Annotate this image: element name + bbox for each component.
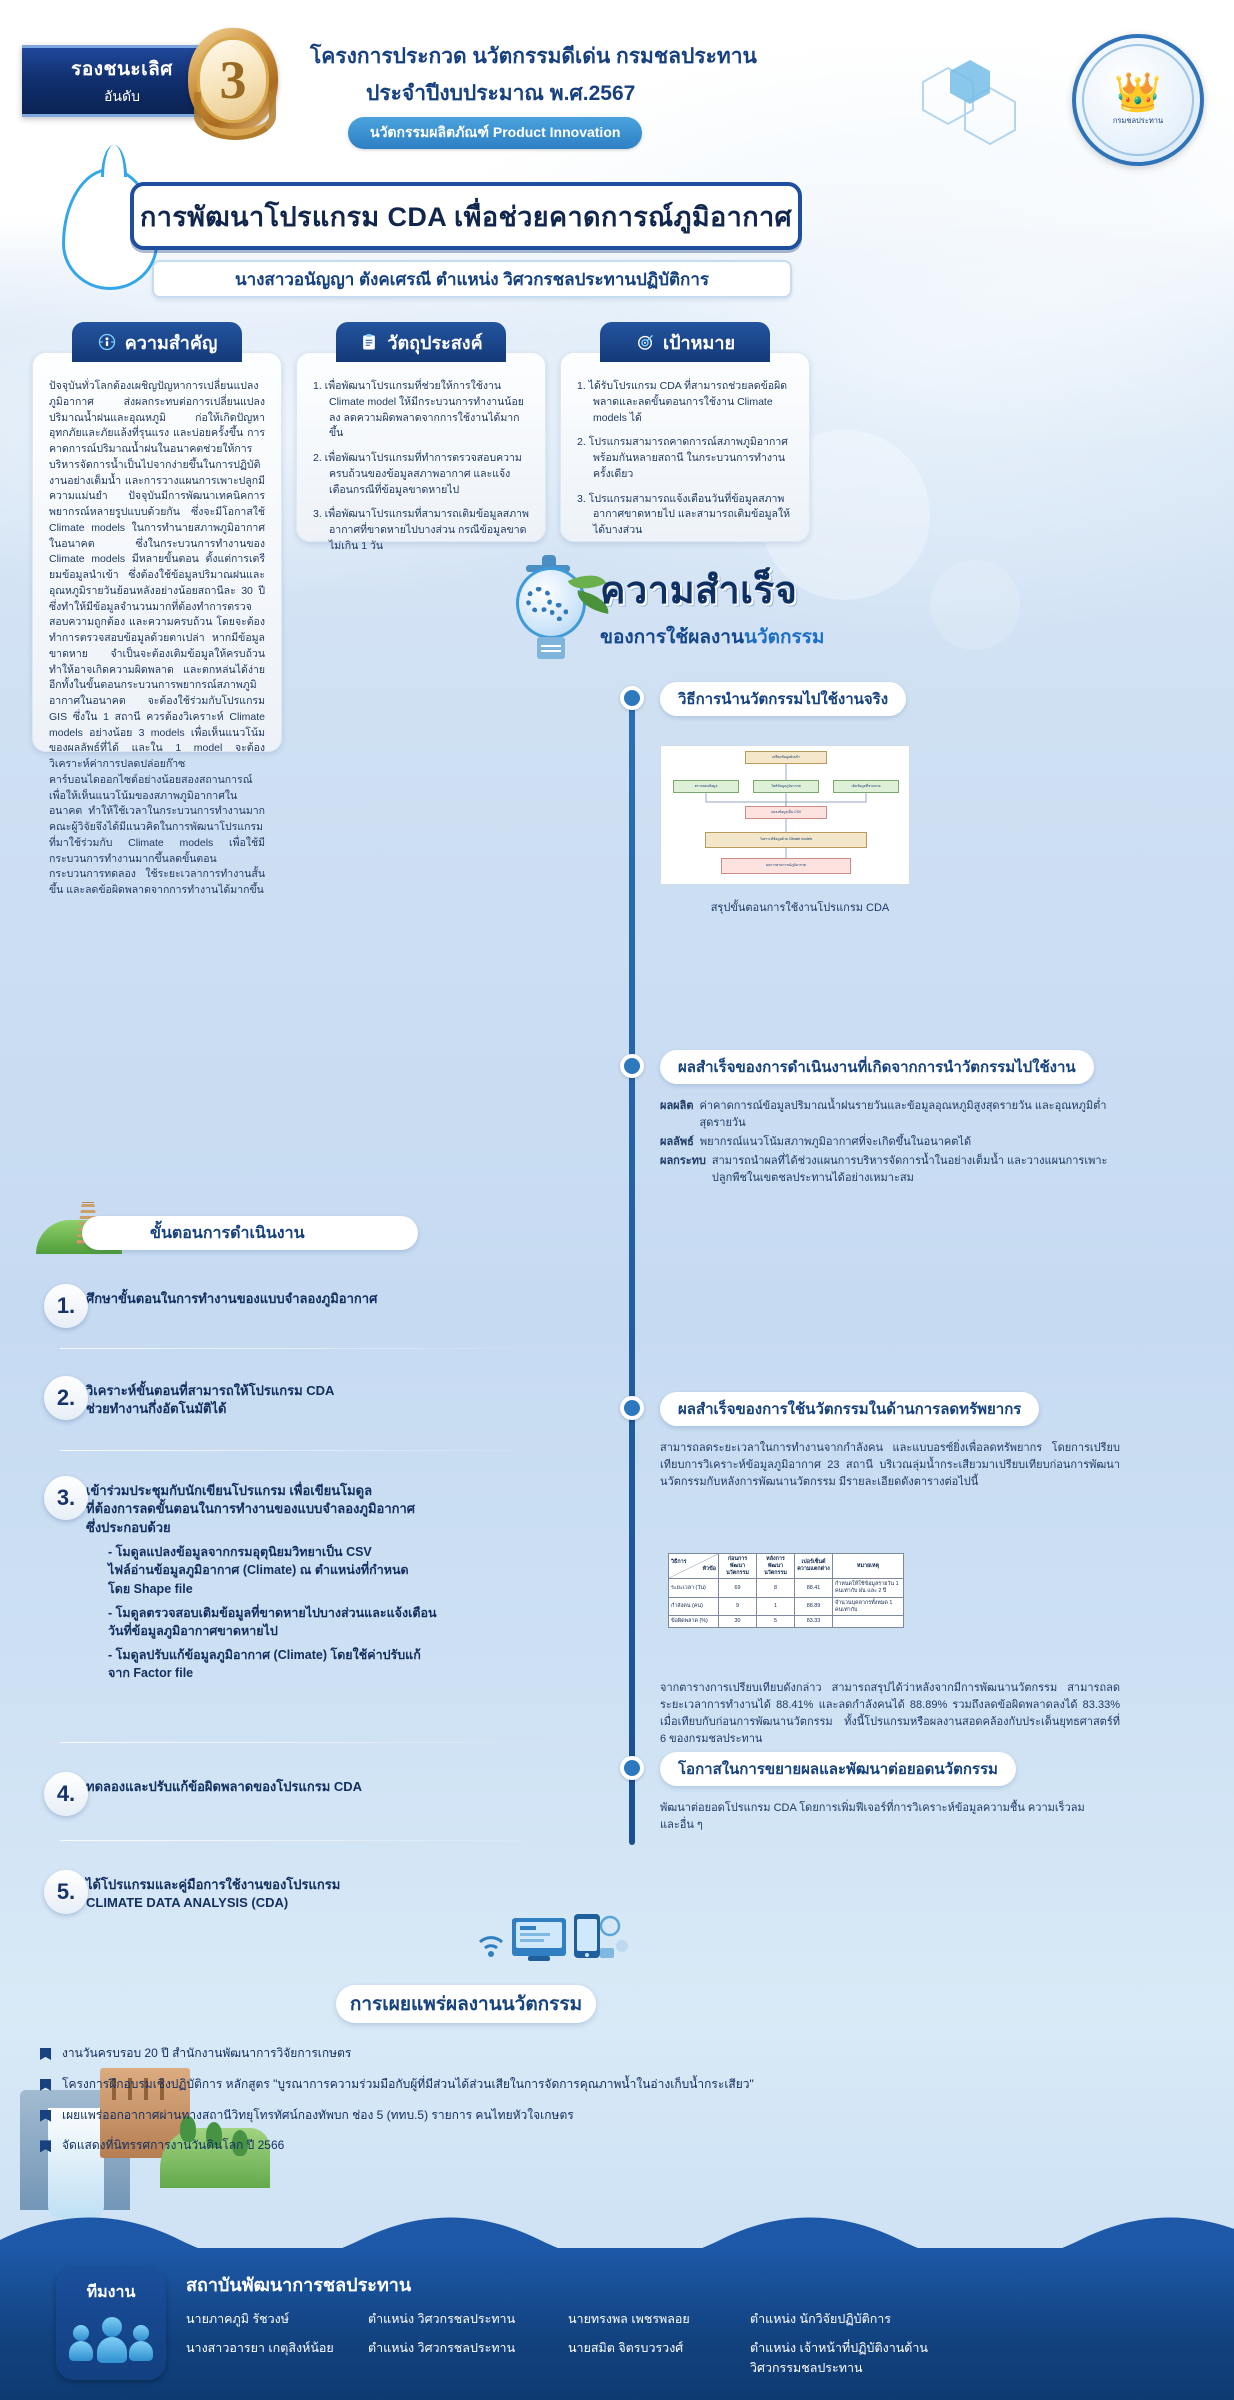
card-objectives-header: วัตถุประสงค์ — [336, 322, 506, 362]
author-name: นางสาวอนัญญา ตังคเศรณี ตำแหน่ง วิศวกรชลป… — [235, 266, 709, 293]
comparison-table: วิธีการ หัวข้อ ก่อนการพัฒนานวัตกรรม หลัง… — [668, 1553, 904, 1628]
flow-node: ตรวจสอบข้อมูล — [673, 780, 739, 793]
list-item: จัดแสดงที่นิทรรศการงานวันดินโลก ปี 2566 — [40, 2137, 800, 2154]
success-heading: ความสำเร็จ — [600, 559, 824, 620]
card-importance-title: ความสำคัญ — [125, 328, 218, 357]
timeline-dot — [620, 686, 644, 710]
table-col-note: หมายเหตุ — [833, 1554, 904, 1579]
result-text: พยากรณ์แนวโน้มสภาพภูมิอากาศที่จะเกิดขึ้น… — [700, 1134, 971, 1151]
row-metric: กำลังคน (คน) — [669, 1597, 719, 1616]
list-item: 2. โปรแกรมสามารถคาดการณ์สภาพภูมิอากาศ พร… — [577, 435, 793, 482]
people-group-icon — [69, 2315, 153, 2363]
category-pill: นวัตกรรมผลิตภัณฑ์ Product Innovation — [348, 117, 642, 149]
clipboard-icon — [359, 332, 379, 352]
member-name: นายสมิต จิตรบวรวงศ์ — [568, 2338, 750, 2378]
row-after: 5 — [757, 1616, 795, 1628]
competition-line-1: โครงการประกวด นวัตกรรมดีเด่น กรมชลประทาน — [310, 40, 900, 73]
step-separator — [60, 1840, 560, 1841]
step-number: 3. — [44, 1476, 88, 1520]
step-separator — [60, 1348, 560, 1349]
comparison-table-wrapper: วิธีการ หัวข้อ ก่อนการพัฒนานวัตกรรม หลัง… — [668, 1553, 904, 1628]
team-label: ทีมงาน — [87, 2280, 136, 2305]
bulb-base — [537, 637, 565, 659]
section-heading-dissemination: การเผยแพร่ผลงานนวัตกรรม — [336, 1985, 596, 2023]
step-number: 5. — [44, 1870, 88, 1914]
card-objectives: วัตถุประสงค์ 1. เพื่อพัฒนาโปรแกรมที่ช่วย… — [296, 322, 546, 542]
row-after: 1 — [757, 1597, 795, 1616]
list-item: 1. ได้รับโปรแกรม CDA ที่สามารถช่วยลดข้อผ… — [577, 379, 793, 426]
flow-diagram-image: เตรียมข้อมูลดิบเข้า ตรวจสอบข้อมูล ไฟล์ข้… — [660, 745, 910, 885]
step-2: 2. วิเคราะห์ขั้นตอนที่สามารถให้โปรแกรม C… — [86, 1382, 556, 1419]
card-goals-header: เป้าหมาย — [600, 322, 770, 362]
result-text: สามารถนำผลที่ได้ช่วงแผนการบริหารจัดการน้… — [712, 1153, 1120, 1187]
expansion-text: พัฒนาต่อยอดโปรแกรม CDA โดยการเพิ่มฟีเจอร… — [660, 1800, 1100, 1834]
timeline-rail — [629, 690, 635, 1845]
member-position: ตำแหน่ง เจ้าหน้าที่ปฏิบัติงานด้านวิศวกรร… — [750, 2338, 950, 2378]
target-icon — [635, 332, 655, 352]
card-importance: ความสำคัญ ปัจจุบันทั่วโลกต้องเผชิญปัญหาก… — [32, 322, 282, 752]
step-3: 3. เข้าร่วมประชุมกับนักเขียนโปรแกรม เพื่… — [86, 1482, 556, 1682]
table-corner-cell: วิธีการ หัวข้อ — [669, 1554, 719, 1579]
gear-icon — [526, 587, 552, 613]
list-item: 2. เพื่อพัฒนาโปรแกรมที่ทำการตรวจสอบความค… — [313, 451, 529, 498]
emblem-inner-ring: 👑 กรมชลประทาน — [1082, 44, 1194, 156]
success-sub-plain: ของการใช้ผลงาน — [600, 627, 744, 648]
flow-node: เติมข้อมูลที่ขาดหาย — [833, 780, 899, 793]
member-name: นายภาคภูมิ รัชวงษ์ — [186, 2309, 368, 2329]
result-label: ผลกระทบ — [660, 1153, 706, 1187]
section-heading-resource: ผลสำเร็จของการใช้นวัตกรรมในด้านการลดทรัพ… — [660, 1392, 1039, 1426]
row-diff: 83.33 — [795, 1616, 833, 1628]
step-separator — [60, 1742, 560, 1743]
team-member-row: นายทรงพล เพชรพลอย ตำแหน่ง นักวิจัยปฏิบัต… — [568, 2309, 950, 2329]
innovation-bulb-icon — [496, 563, 606, 673]
success-text: ความสำเร็จ ของการใช้ผลงานนวัตกรรม — [600, 559, 824, 652]
list-item: เผยแพร่ออกอากาศผ่านทางสถานีวิทยุโทรทัศน์… — [40, 2107, 800, 2124]
row-before: 9 — [719, 1597, 757, 1616]
section-heading-usage: วิธีการนำนวัตกรรมไปใช้งานจริง — [660, 682, 906, 716]
section-heading-expansion: โอกาสในการขยายผลและพัฒนาต่อยอดนวัตกรรม — [660, 1752, 1016, 1786]
step-1: 1. ศึกษาขั้นตอนในการทำงานของแบบจำลองภูมิ… — [86, 1290, 556, 1308]
importance-paragraph: ปัจจุบันทั่วโลกต้องเผชิญปัญหาการเปลี่ยนแ… — [49, 379, 265, 899]
media-devices-icon — [450, 1900, 650, 1980]
decorative-circle — [930, 560, 1020, 650]
result-label: ผลลัพธ์ — [660, 1134, 694, 1151]
timeline-dot — [620, 1396, 644, 1420]
header-text-block: โครงการประกวด นวัตกรรมดีเด่น กรมชลประทาน… — [310, 40, 900, 149]
step-text: ศึกษาขั้นตอนในการทำงานของแบบจำลองภูมิอาก… — [86, 1290, 556, 1308]
result-row: ผลกระทบ สามารถนำผลที่ได้ช่วงแผนการบริหาร… — [660, 1153, 1120, 1187]
table-col-before: ก่อนการพัฒนานวัตกรรม — [719, 1554, 757, 1579]
dissemination-list: งานวันครบรอบ 20 ปี สำนักงานพัฒนาการวิจัย… — [40, 2045, 800, 2168]
corner-bottom-label: หัวข้อ — [671, 1566, 716, 1573]
step-number: 4. — [44, 1772, 88, 1816]
medal-badge: 3 — [180, 28, 286, 140]
member-position: ตำแหน่ง วิศวกรชลประทาน — [368, 2338, 568, 2358]
success-sub-highlight: นวัตกรรม — [744, 627, 824, 648]
section-heading-steps: ขั้นตอนการดำเนินงาน — [82, 1216, 418, 1250]
card-goals-body: 1. ได้รับโปรแกรม CDA ที่สามารถช่วยลดข้อผ… — [560, 352, 810, 542]
royal-irrigation-department-emblem: 👑 กรมชลประทาน — [1072, 34, 1204, 166]
step-number: 2. — [44, 1376, 88, 1420]
step-text: เข้าร่วมประชุมกับนักเขียนโปรแกรม เพื่อเข… — [86, 1482, 556, 1537]
list-item: 1. เพื่อพัฒนาโปรแกรมที่ช่วยให้การใช้งาน … — [313, 379, 529, 442]
step-number: 1. — [44, 1284, 88, 1328]
hexagon-decoration-icon — [918, 58, 1038, 168]
card-importance-body: ปัจจุบันทั่วโลกต้องเผชิญปัญหาการเปลี่ยนแ… — [32, 352, 282, 752]
team-member-row: นายสมิต จิตรบวรวงศ์ ตำแหน่ง เจ้าหน้าที่ป… — [568, 2338, 950, 2378]
timeline-dot — [620, 1756, 644, 1780]
goals-list: 1. ได้รับโปรแกรม CDA ที่สามารถช่วยลดข้อผ… — [577, 379, 793, 539]
objectives-list: 1. เพื่อพัฒนาโปรแกรมที่ช่วยให้การใช้งาน … — [313, 379, 529, 555]
importance-icon — [97, 332, 117, 352]
step-substep: - โมดูลแปลงข้อมูลจากกรมอุตุนิยมวิทยาเป็น… — [108, 1543, 556, 1597]
row-diff: 88.89 — [795, 1597, 833, 1616]
team-member-row: นางสาวอารยา เกตุสิงห์น้อย ตำแหน่ง วิศวกร… — [186, 2338, 568, 2358]
team-badge: ทีมงาน — [56, 2268, 166, 2380]
row-note: กำหนดให้ใช้ข้อมูลรายวัน 1 คนเท่ากับ ฝน แ… — [833, 1579, 904, 1598]
row-metric: ระยะเวลา (วัน) — [669, 1579, 719, 1598]
list-item: งานวันครบรอบ 20 ปี สำนักงานพัฒนาการวิจัย… — [40, 2045, 800, 2062]
member-name: นายทรงพล เพชรพลอย — [568, 2309, 750, 2329]
step-substep: - โมดูลปรับแก้ข้อมูลภูมิอากาศ (Climate) … — [108, 1646, 556, 1682]
step-text: วิเคราะห์ขั้นตอนที่สามารถให้โปรแกรม CDA … — [86, 1382, 556, 1419]
flow-diagram-caption: สรุปขั้นตอนการใช้งานโปรแกรม CDA — [660, 900, 940, 917]
table-header-row: วิธีการ หัวข้อ ก่อนการพัฒนานวัตกรรม หลัง… — [669, 1554, 904, 1579]
table-row: ระยะเวลา (วัน) 69 8 88.41 กำหนดให้ใช้ข้อ… — [669, 1579, 904, 1598]
team-members-grid: นายภาคภูมิ รัชวงษ์ ตำแหน่ง วิศวกรชลประทา… — [186, 2309, 1186, 2378]
step-separator — [60, 1450, 560, 1451]
team-info: สถาบันพัฒนาการชลประทาน นายภาคภูมิ รัชวงษ… — [186, 2270, 1186, 2378]
result-row: ผลลัพธ์ พยากรณ์แนวโน้มสภาพภูมิอากาศที่จะ… — [660, 1134, 1120, 1151]
row-diff: 88.41 — [795, 1579, 833, 1598]
gear-icon — [550, 603, 568, 621]
list-item: 3. โปรแกรมสามารถแจ้งเตือนวันที่ข้อมูลสภา… — [577, 492, 793, 539]
success-subheading: ของการใช้ผลงานนวัตกรรม — [600, 622, 824, 652]
section-heading-results: ผลสำเร็จของการดำเนินงานที่เกิดจากการนำวั… — [660, 1050, 1094, 1084]
page-title: การพัฒนาโปรแกรม CDA เพื่อช่วยคาดการณ์ภูม… — [140, 195, 792, 238]
resource-conclusion: จากตารางการเปรียบเทียบดังกล่าว สามารถสรุ… — [660, 1680, 1120, 1748]
row-before: 30 — [719, 1616, 757, 1628]
flow-node: วิเคราะห์ข้อมูลด้วย Climate models — [705, 832, 867, 848]
resource-intro: สามารถลดระยะเวลาในการทำงานจากกำลังคน และ… — [660, 1440, 1120, 1491]
card-objectives-body: 1. เพื่อพัฒนาโปรแกรมที่ช่วยให้การใช้งาน … — [296, 352, 546, 542]
team-organization: สถาบันพัฒนาการชลประทาน — [186, 2270, 1186, 2299]
garuda-glyph-icon: 👑 — [1114, 74, 1161, 112]
timeline-dot — [620, 1054, 644, 1078]
table-col-diff: เปอร์เซ็นต์ความแตกต่าง — [795, 1554, 833, 1579]
table-col-after: หลังการพัฒนานวัตกรรม — [757, 1554, 795, 1579]
poster-footer: ทีมงาน สถาบันพัฒนาการชลประทาน นายภาคภูมิ… — [0, 2248, 1234, 2400]
flow-node: ผลการคาดการณ์ภูมิอากาศ — [721, 858, 851, 874]
result-label: ผลผลิต — [660, 1098, 694, 1132]
card-objectives-title: วัตถุประสงค์ — [387, 328, 482, 357]
table-row: ข้อผิดพลาด (%) 30 5 83.33 — [669, 1616, 904, 1628]
author-bar: นางสาวอนัญญา ตังคเศรณี ตำแหน่ง วิศวกรชลป… — [152, 260, 792, 298]
flow-node: แปลงข้อมูลเป็น CSV — [745, 806, 827, 819]
team-column-left: นายภาคภูมิ รัชวงษ์ ตำแหน่ง วิศวกรชลประทา… — [186, 2309, 568, 2378]
poster-title-card: การพัฒนาโปรแกรม CDA เพื่อช่วยคาดการณ์ภูม… — [130, 182, 802, 250]
row-metric: ข้อผิดพลาด (%) — [669, 1616, 719, 1628]
result-row: ผลผลิต ค่าคาดการณ์ข้อมูลปริมาณน้ำฝนรายวั… — [660, 1098, 1120, 1132]
success-banner: ความสำเร็จ ของการใช้ผลงานนวัตกรรม — [470, 555, 870, 685]
flow-node: ไฟล์ข้อมูลภูมิอากาศ — [753, 780, 819, 793]
step-substep: - โมดูลตรวจสอบเติมข้อมูลที่ขาดหายไปบางส่… — [108, 1604, 556, 1640]
row-note — [833, 1616, 904, 1628]
card-goals: เป้าหมาย 1. ได้รับโปรแกรม CDA ที่สามารถช… — [560, 322, 810, 542]
dissemination-icons — [450, 1900, 650, 1980]
card-goals-title: เป้าหมาย — [663, 328, 735, 357]
step-4: 4. ทดลองและปรับแก้ข้อผิดพลาดของโปรแกรม C… — [86, 1778, 556, 1796]
rank-label-primary: รองชนะเลิศ — [71, 54, 173, 84]
flow-node: เตรียมข้อมูลดิบเข้า — [745, 751, 827, 764]
row-after: 8 — [757, 1579, 795, 1598]
card-importance-header: ความสำคัญ — [72, 322, 242, 362]
table-row: กำลังคน (คน) 9 1 88.89 จำนวนบุคลากรทั้งห… — [669, 1597, 904, 1616]
member-position: ตำแหน่ง วิศวกรชลประทาน — [368, 2309, 568, 2329]
row-before: 69 — [719, 1579, 757, 1598]
team-member-row: นายภาคภูมิ รัชวงษ์ ตำแหน่ง วิศวกรชลประทา… — [186, 2309, 568, 2329]
laurel-wreath-inner-icon — [202, 98, 268, 136]
emblem-caption: กรมชลประทาน — [1113, 115, 1163, 127]
results-body: ผลผลิต ค่าคาดการณ์ข้อมูลปริมาณน้ำฝนรายวั… — [660, 1098, 1120, 1187]
row-note: จำนวนบุคลากรทั้งหมด 1 คนเท่ากับ — [833, 1597, 904, 1616]
team-column-right: นายทรงพล เพชรพลอย ตำแหน่ง นักวิจัยปฏิบัต… — [568, 2309, 950, 2378]
list-item: โครงการฝึกอบรมเชิงปฏิบัติการ หลักสูตร "บ… — [40, 2076, 800, 2093]
result-text: ค่าคาดการณ์ข้อมูลปริมาณน้ำฝนรายวันและข้อ… — [700, 1098, 1120, 1132]
competition-line-2: ประจำปีงบประมาณ พ.ศ.2567 — [310, 77, 900, 110]
member-position: ตำแหน่ง นักวิจัยปฏิบัติการ — [750, 2309, 950, 2329]
list-item: 3. เพื่อพัฒนาโปรแกรมที่สามารถเติมข้อมูลส… — [313, 507, 529, 554]
step-text: ทดลองและปรับแก้ข้อผิดพลาดของโปรแกรม CDA — [86, 1778, 556, 1796]
rank-label-secondary: อันดับ — [104, 86, 140, 108]
member-name: นางสาวอารยา เกตุสิงห์น้อย — [186, 2338, 368, 2358]
